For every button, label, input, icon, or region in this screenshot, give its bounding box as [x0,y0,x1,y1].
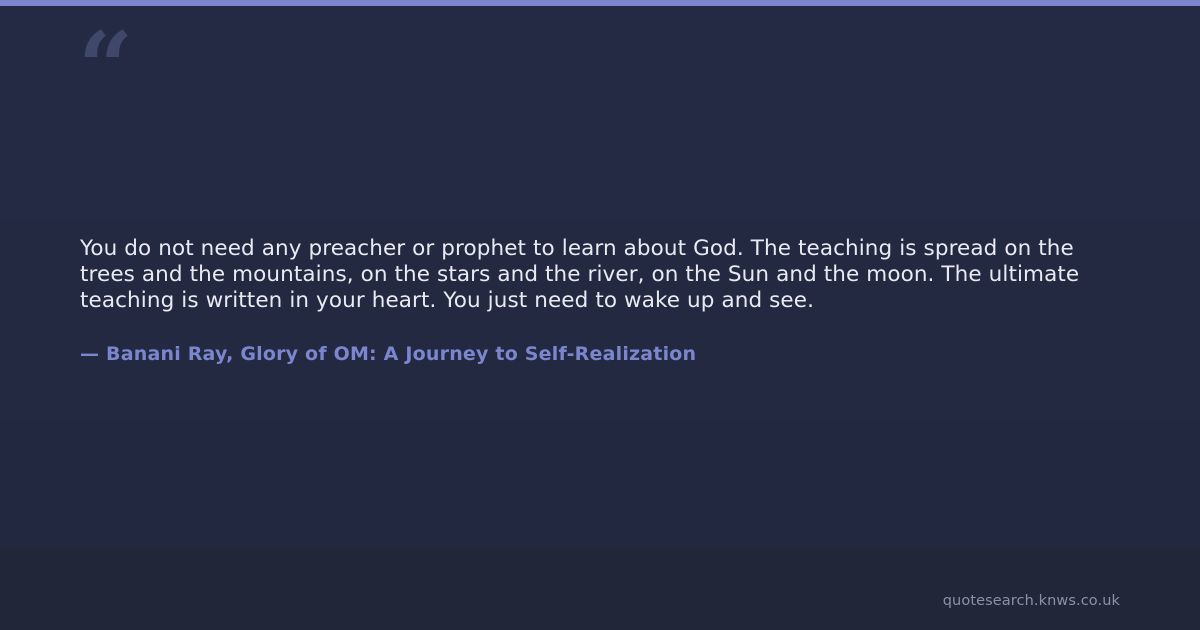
source-site-label: quotesearch.knws.co.uk [943,592,1120,610]
top-accent-bar [0,0,1200,6]
quote-attribution: — Banani Ray, Glory of OM: A Journey to … [80,314,1126,366]
quote-content-block: You do not need any preacher or prophet … [80,236,1126,366]
quote-text: You do not need any preacher or prophet … [80,236,1126,314]
quote-card: “ You do not need any preacher or prophe… [0,0,1200,630]
quote-mark-icon: “ [78,20,131,116]
